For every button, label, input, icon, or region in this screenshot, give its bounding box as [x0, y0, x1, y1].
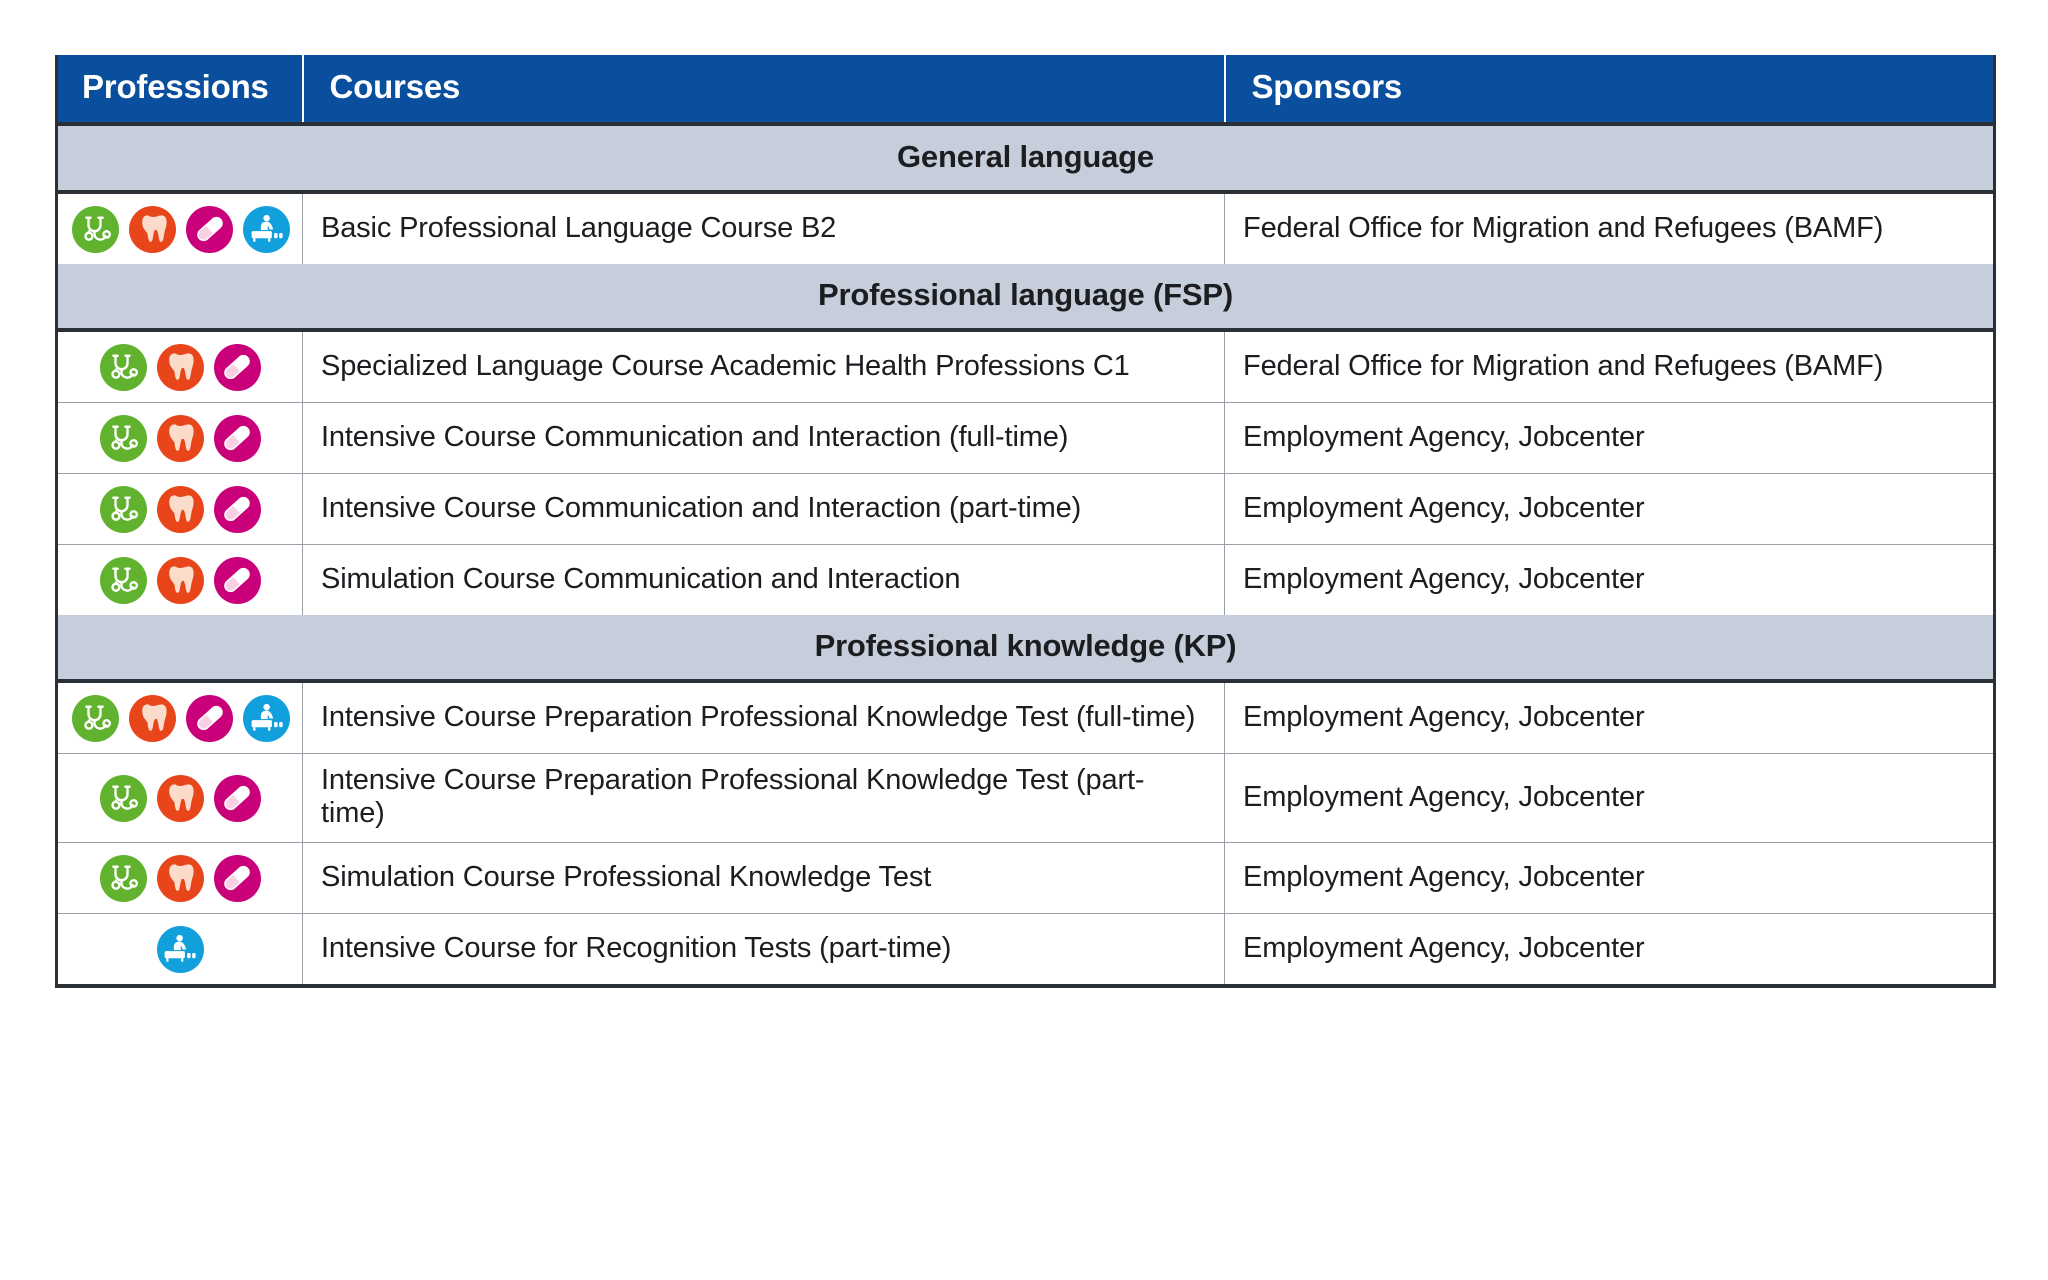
column-header-professions: Professions: [57, 55, 303, 124]
section-title: Professional knowledge (KP): [57, 615, 1995, 681]
stethoscope-icon: [100, 775, 147, 822]
tooth-icon: [157, 415, 204, 462]
section-header-row: Professional knowledge (KP): [57, 615, 1995, 681]
professions-cell: [57, 843, 303, 914]
massage-therapy-icon: [243, 206, 290, 253]
tooth-icon: [129, 695, 176, 742]
course-name-cell: Intensive Course Communication and Inter…: [303, 474, 1225, 545]
course-overview-table: Professions Courses Sponsors General lan…: [55, 55, 1996, 988]
professions-cell: [57, 474, 303, 545]
profession-icon-group: [66, 413, 294, 463]
table-body: General language: [57, 124, 1995, 986]
sponsor-cell: Employment Agency, Jobcenter: [1225, 474, 1995, 545]
profession-icon-group: [66, 555, 294, 605]
section-title: Professional language (FSP): [57, 264, 1995, 330]
stethoscope-icon: [100, 344, 147, 391]
sponsor-cell: Federal Office for Migration and Refugee…: [1225, 330, 1995, 403]
stethoscope-icon: [100, 855, 147, 902]
course-name-cell: Intensive Course Preparation Professiona…: [303, 754, 1225, 843]
table-row: Intensive Course for Recognition Tests (…: [57, 914, 1995, 987]
pill-capsule-icon: [214, 415, 261, 462]
tooth-icon: [157, 344, 204, 391]
stethoscope-icon: [100, 486, 147, 533]
tooth-icon: [157, 486, 204, 533]
section-title: General language: [57, 124, 1995, 192]
table-footer-rule: [57, 986, 1995, 988]
pill-capsule-icon: [186, 695, 233, 742]
sponsor-cell: Federal Office for Migration and Refugee…: [1225, 192, 1995, 264]
course-name-cell: Intensive Course Preparation Professiona…: [303, 681, 1225, 754]
table-row: Intensive Course Preparation Professiona…: [57, 681, 1995, 754]
sponsor-cell: Employment Agency, Jobcenter: [1225, 843, 1995, 914]
sponsor-cell: Employment Agency, Jobcenter: [1225, 545, 1995, 616]
profession-icon-group: [66, 853, 294, 903]
table-row: Intensive Course Communication and Inter…: [57, 403, 1995, 474]
course-name-cell: Basic Professional Language Course B2: [303, 192, 1225, 264]
sponsor-cell: Employment Agency, Jobcenter: [1225, 403, 1995, 474]
table-bottom-border: [57, 986, 1995, 988]
table-row: Intensive Course Communication and Inter…: [57, 474, 1995, 545]
stethoscope-icon: [72, 206, 119, 253]
profession-icon-group: [66, 342, 294, 392]
stethoscope-icon: [100, 415, 147, 462]
sponsor-cell: Employment Agency, Jobcenter: [1225, 681, 1995, 754]
stethoscope-icon: [100, 557, 147, 604]
course-name-cell: Simulation Course Professional Knowledge…: [303, 843, 1225, 914]
course-name-cell: Intensive Course Communication and Inter…: [303, 403, 1225, 474]
professions-cell: [57, 330, 303, 403]
section-header-row: General language: [57, 124, 1995, 192]
table-header-row: Professions Courses Sponsors: [57, 55, 1995, 124]
profession-icon-group: [66, 484, 294, 534]
course-name-cell: Intensive Course for Recognition Tests (…: [303, 914, 1225, 987]
course-name-cell: Specialized Language Course Academic Hea…: [303, 330, 1225, 403]
tooth-icon: [157, 775, 204, 822]
pill-capsule-icon: [214, 775, 261, 822]
course-table-container: Professions Courses Sponsors General lan…: [55, 55, 1993, 988]
profession-icon-group: [66, 773, 294, 823]
sponsor-cell: Employment Agency, Jobcenter: [1225, 754, 1995, 843]
table-row: Intensive Course Preparation Professiona…: [57, 754, 1995, 843]
tooth-icon: [157, 557, 204, 604]
professions-cell: [57, 545, 303, 616]
table-header: Professions Courses Sponsors: [57, 55, 1995, 124]
table-row: Basic Professional Language Course B2Fed…: [57, 192, 1995, 264]
pill-capsule-icon: [214, 486, 261, 533]
profession-icon-group: [66, 924, 294, 974]
page-root: Professions Courses Sponsors General lan…: [0, 0, 2048, 1280]
professions-cell: [57, 754, 303, 843]
section-header-row: Professional language (FSP): [57, 264, 1995, 330]
table-row: Simulation Course Professional Knowledge…: [57, 843, 1995, 914]
massage-therapy-icon: [243, 695, 290, 742]
professions-cell: [57, 403, 303, 474]
column-header-courses: Courses: [303, 55, 1225, 124]
professions-cell: [57, 914, 303, 987]
column-header-sponsors: Sponsors: [1225, 55, 1995, 124]
pill-capsule-icon: [186, 206, 233, 253]
pill-capsule-icon: [214, 855, 261, 902]
stethoscope-icon: [72, 695, 119, 742]
pill-capsule-icon: [214, 344, 261, 391]
professions-cell: [57, 192, 303, 264]
sponsor-cell: Employment Agency, Jobcenter: [1225, 914, 1995, 987]
profession-icon-group: [66, 693, 294, 743]
table-row: Simulation Course Communication and Inte…: [57, 545, 1995, 616]
course-name-cell: Simulation Course Communication and Inte…: [303, 545, 1225, 616]
massage-therapy-icon: [157, 926, 204, 973]
pill-capsule-icon: [214, 557, 261, 604]
tooth-icon: [129, 206, 176, 253]
table-row: Specialized Language Course Academic Hea…: [57, 330, 1995, 403]
tooth-icon: [157, 855, 204, 902]
professions-cell: [57, 681, 303, 754]
profession-icon-group: [66, 204, 294, 254]
